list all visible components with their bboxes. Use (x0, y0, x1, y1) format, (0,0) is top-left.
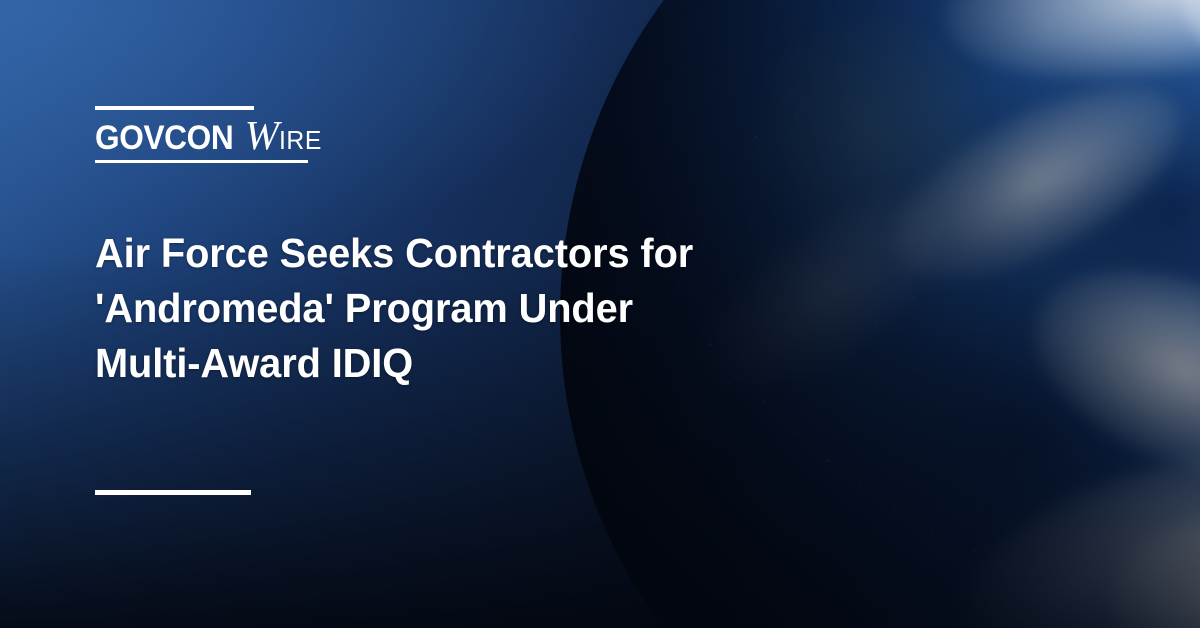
site-logo[interactable]: GOVCON W IRE (95, 106, 310, 163)
logo-top-rule (95, 106, 254, 110)
logo-text-ire: IRE (279, 127, 322, 153)
page-title: Air Force Seeks Contractors for 'Androme… (95, 226, 658, 391)
logo-bottom-rule (95, 160, 308, 163)
logo-text-govcon: GOVCON (95, 121, 233, 155)
logo-text-w: W (245, 115, 278, 156)
headline-line-1: Air Force Seeks Contractors for (95, 226, 658, 281)
content-column: GOVCON W IRE Air Force Seeks Contractors… (95, 0, 715, 628)
social-share-card: GOVCON W IRE Air Force Seeks Contractors… (0, 0, 1200, 628)
accent-rule (95, 490, 251, 495)
headline-line-2: 'Andromeda' Program Under (95, 281, 658, 336)
logo-wordmark: GOVCON W IRE (95, 115, 310, 156)
headline-line-3: Multi-Award IDIQ (95, 336, 658, 391)
